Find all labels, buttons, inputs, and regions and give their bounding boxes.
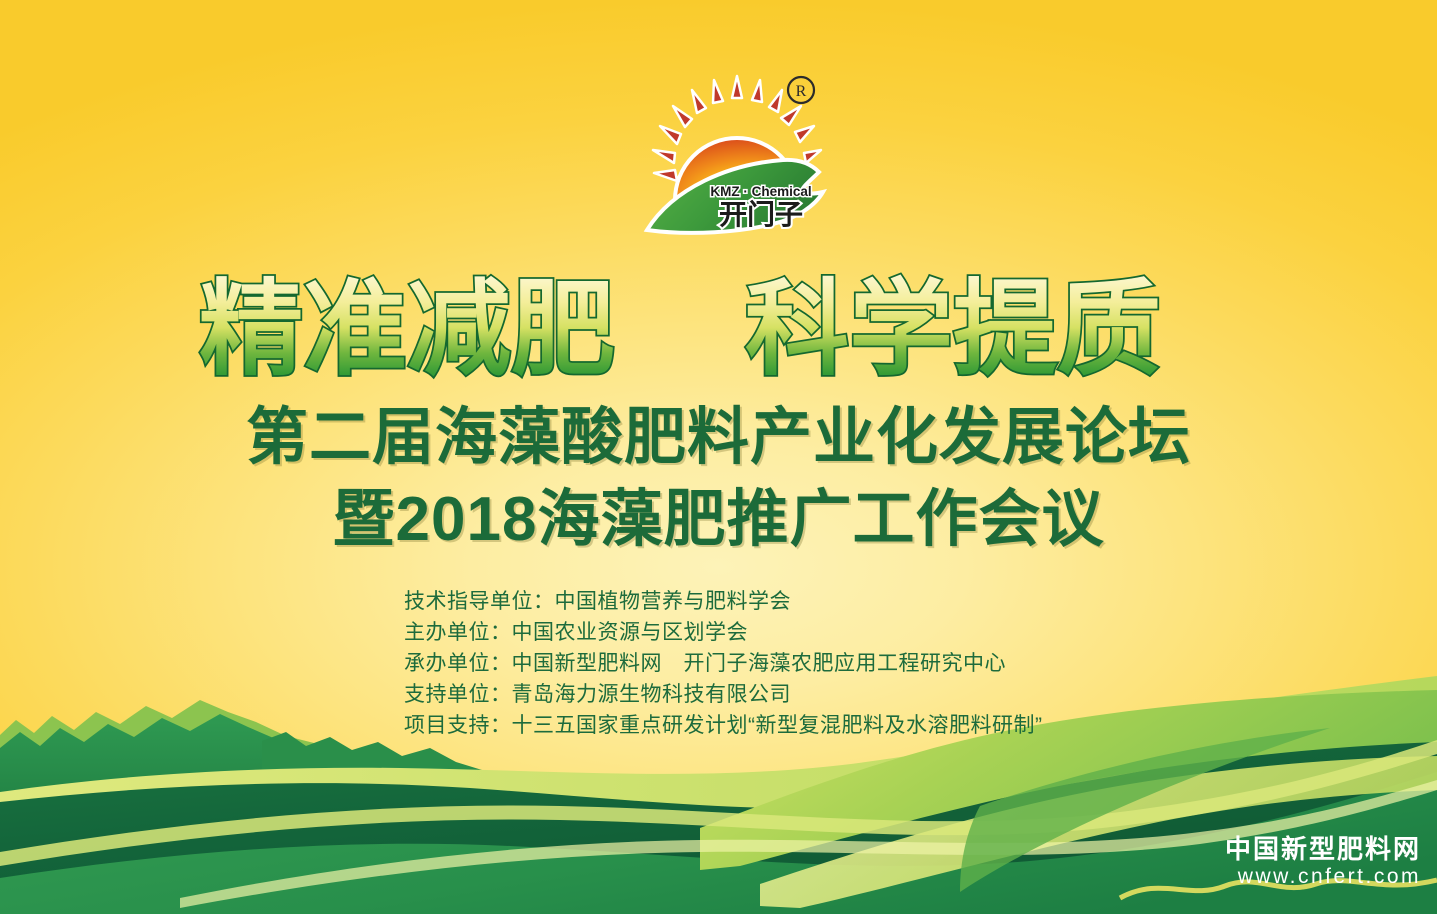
headline-slogan: 精准减肥 科学提质	[0, 268, 1437, 393]
headline-phrase-1: 精准减肥	[199, 272, 615, 388]
logo-mark: R KMZ · Chemical 开门子	[633, 68, 843, 243]
svg-text:R: R	[796, 83, 807, 100]
credit-line-technical-guidance: 技术指导单位：中国植物营养与肥料学会	[404, 586, 1042, 617]
watermark-site-name: 中国新型肥料网	[1225, 834, 1421, 864]
credit-line-supporter: 支持单位：青岛海力源生物科技有限公司	[404, 679, 1042, 710]
headline-phrase-2: 科学提质	[745, 272, 1161, 388]
hill-band-mid	[0, 772, 1437, 914]
brand-logo: R KMZ · Chemical 开门子	[633, 68, 843, 243]
hill-streak-1	[0, 740, 1437, 866]
logo-latin-text: KMZ · Chemical	[710, 184, 811, 199]
credit-line-project-support: 项目支持：十三五国家重点研发计划“新型复混肥料及水溶肥料研制”	[404, 710, 1042, 741]
site-watermark: 中国新型肥料网 www.cnfert.com	[1225, 834, 1421, 890]
subtitle-line-2: 暨2018海藻肥推广工作会议	[0, 484, 1437, 556]
ridge-tufts	[262, 732, 500, 800]
event-banner: R KMZ · Chemical 开门子 精准减肥	[0, 0, 1437, 914]
subtitle-line-1: 第二届海藻酸肥料产业化发展论坛	[0, 402, 1437, 474]
credit-line-organizer: 主办单位：中国农业资源与区划学会	[404, 617, 1042, 648]
registered-mark-icon: R	[788, 77, 814, 103]
headline-svg: 精准减肥 科学提质	[189, 268, 1249, 388]
watermark-url: www.cnfert.com	[1225, 864, 1421, 890]
logo-cn-text: 开门子	[719, 199, 803, 230]
credit-line-undertaker: 承办单位：中国新型肥料网 开门子海藻农肥应用工程研究中心	[404, 648, 1042, 679]
credit-list: 技术指导单位：中国植物营养与肥料学会 主办单位：中国农业资源与区划学会 承办单位…	[404, 586, 1042, 741]
